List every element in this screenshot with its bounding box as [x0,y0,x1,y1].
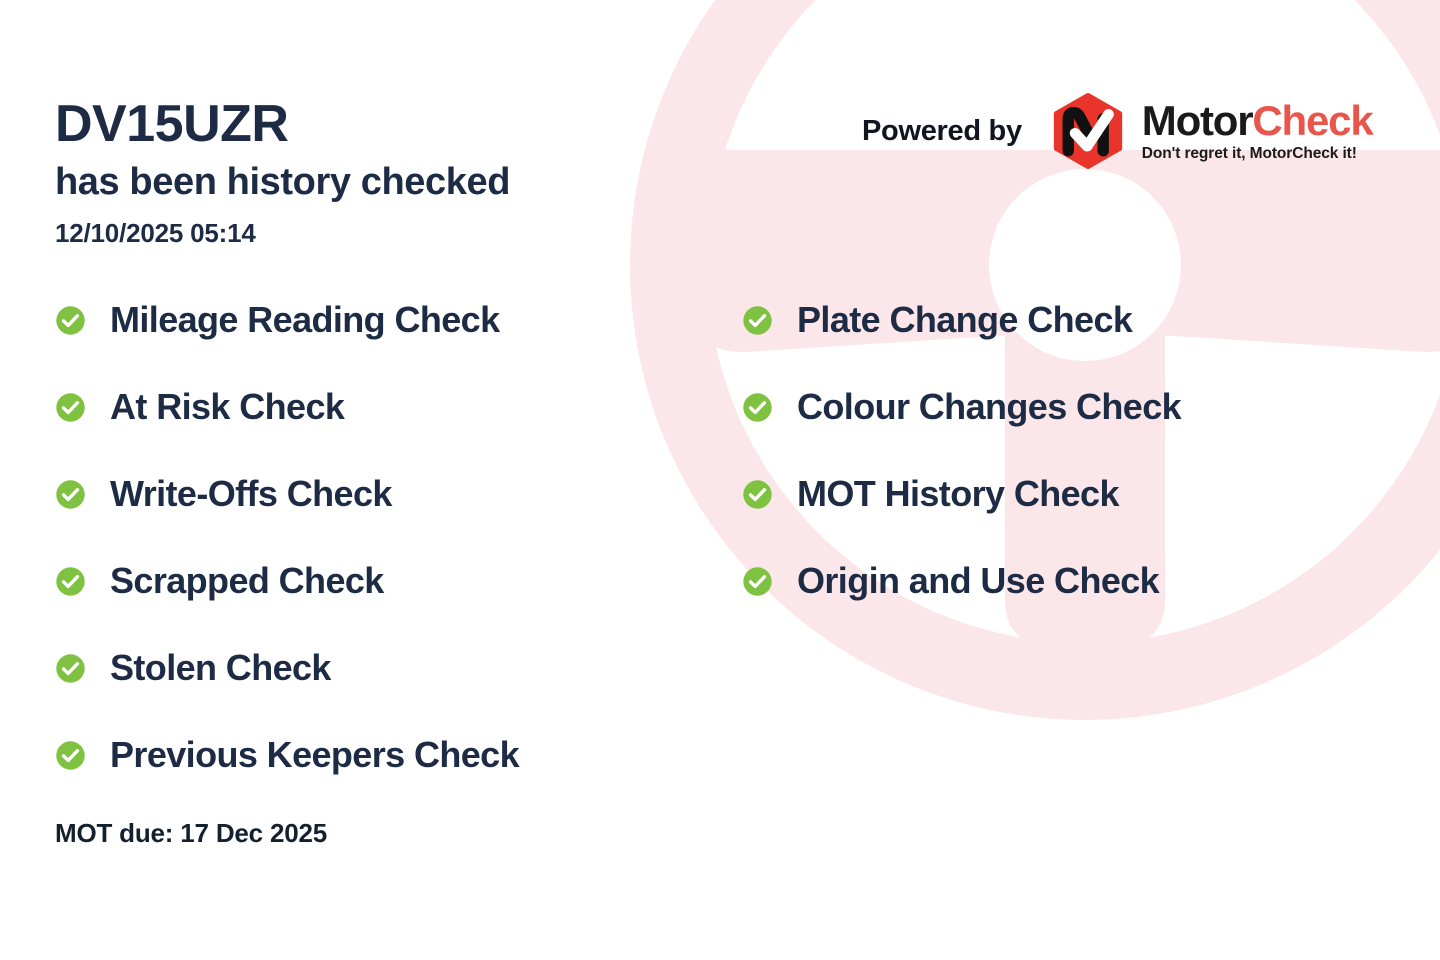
green-check-circle-icon [55,392,86,423]
green-check-circle-icon [55,653,86,684]
check-label: Colour Changes Check [797,389,1181,425]
check-item: Stolen Check [55,641,519,695]
green-check-circle-icon [742,392,773,423]
check-label: Stolen Check [110,650,331,686]
check-item: Mileage Reading Check [55,293,519,347]
green-check-circle-icon [742,305,773,336]
check-label: Scrapped Check [110,563,384,599]
brand-bar: Powered by MotorCheck Don't regret it, M… [862,96,1372,166]
green-check-circle-icon [55,566,86,597]
wordmark-motor: Motor [1142,97,1253,144]
check-item: Scrapped Check [55,554,519,608]
motorcheck-wordmark: MotorCheck Don't regret it, MotorCheck i… [1142,100,1373,163]
check-list-left-column: Mileage Reading Check At Risk Check Writ… [55,293,519,815]
check-label: Origin and Use Check [797,563,1159,599]
check-item: Colour Changes Check [742,380,1181,434]
green-check-circle-icon [55,479,86,510]
green-check-circle-icon [55,305,86,336]
powered-by-label: Powered by [862,115,1022,148]
check-label: Plate Change Check [797,302,1132,338]
check-item: Write-Offs Check [55,467,519,521]
check-list-right-column: Plate Change Check Colour Changes Check … [742,293,1181,641]
green-check-circle-icon [742,479,773,510]
check-label: Mileage Reading Check [110,302,500,338]
check-timestamp: 12/10/2025 05:14 [55,218,256,249]
brand-tagline: Don't regret it, MotorCheck it! [1142,145,1373,163]
check-item: Previous Keepers Check [55,728,519,782]
wordmark-check: Check [1252,97,1372,144]
check-item: MOT History Check [742,467,1181,521]
check-item: At Risk Check [55,380,519,434]
motorcheck-hexagon-m-icon [1050,93,1126,169]
registration-plate-title: DV15UZR [55,98,288,150]
check-item: Origin and Use Check [742,554,1181,608]
mot-due-note: MOT due: 17 Dec 2025 [55,818,327,849]
green-check-circle-icon [742,566,773,597]
check-item: Plate Change Check [742,293,1181,347]
history-check-card: DV15UZR has been history checked 12/10/2… [0,0,1440,960]
check-label: MOT History Check [797,476,1119,512]
check-label: Previous Keepers Check [110,737,519,773]
green-check-circle-icon [55,740,86,771]
check-label: Write-Offs Check [110,476,392,512]
check-label: At Risk Check [110,389,344,425]
history-checked-subtitle: has been history checked [55,163,510,201]
